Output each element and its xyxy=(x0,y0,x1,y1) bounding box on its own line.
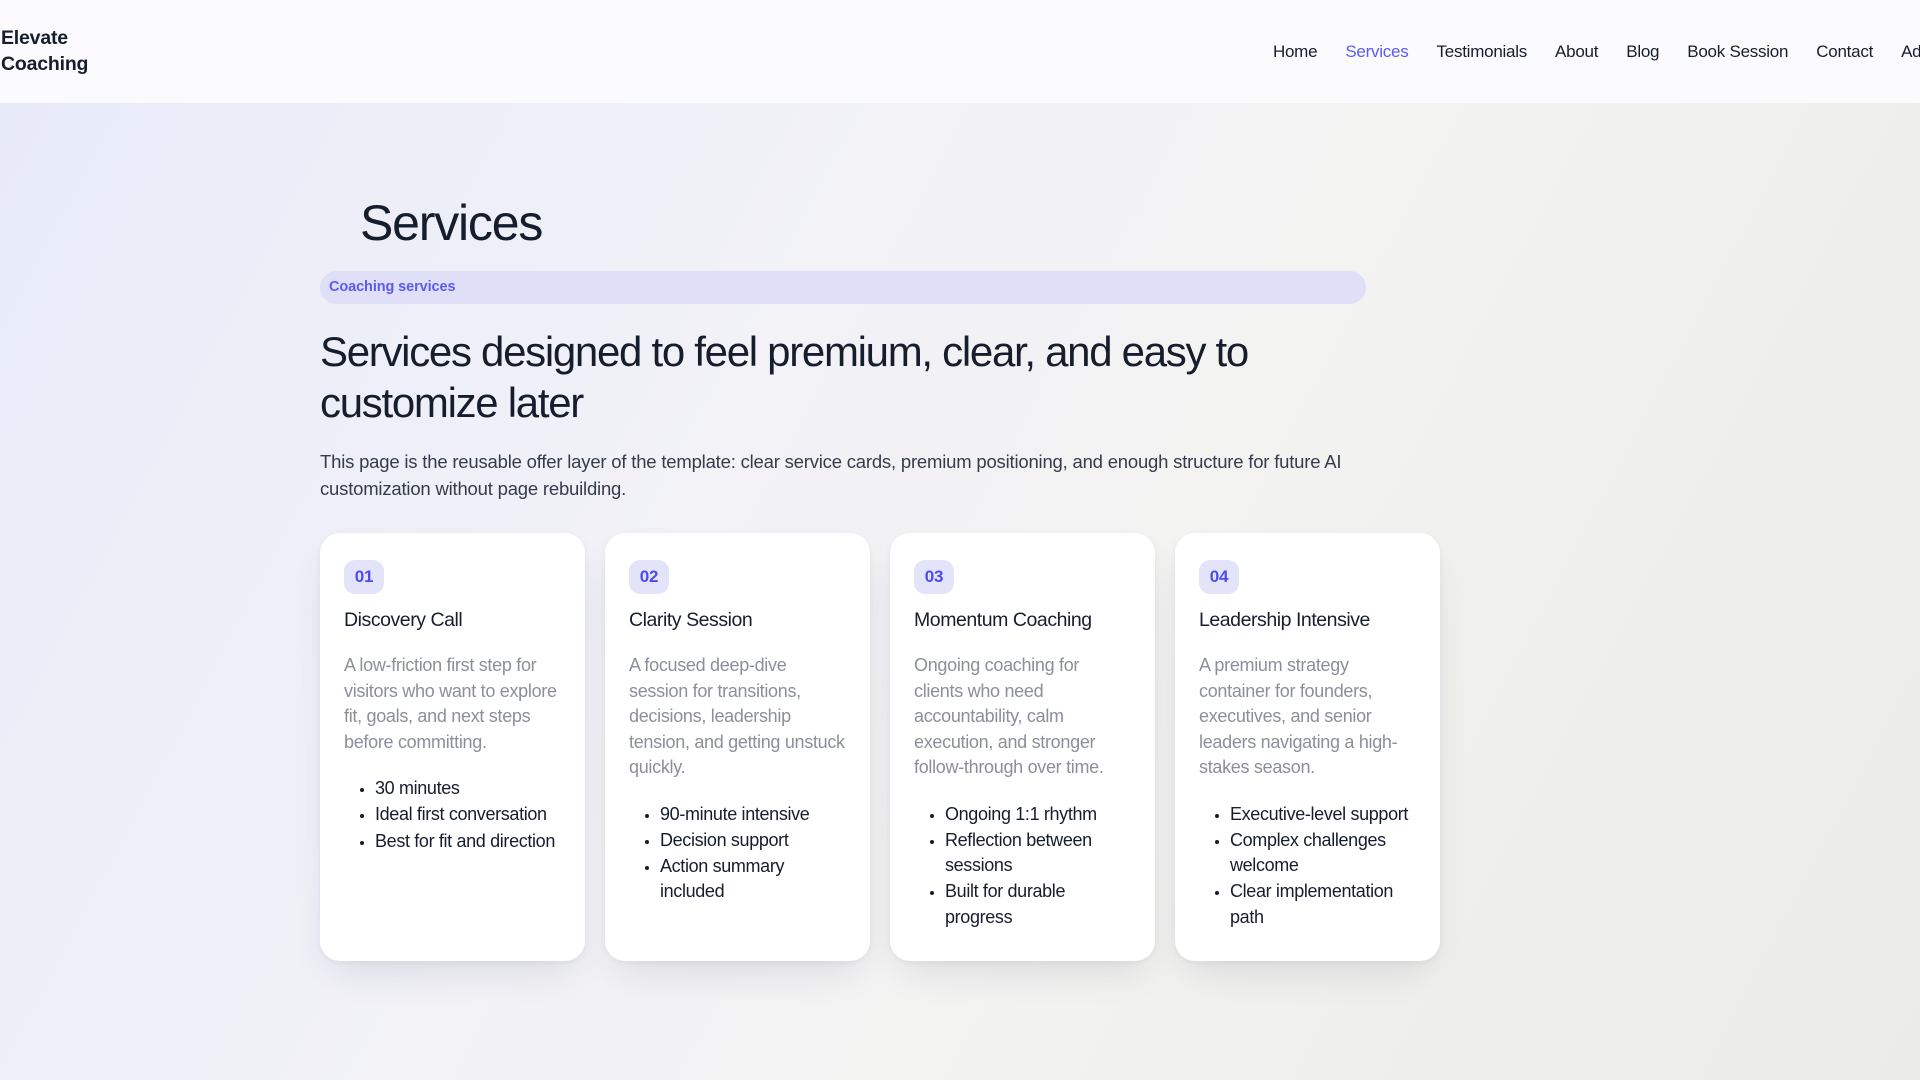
page-title: Services xyxy=(320,103,1600,251)
badge-row: Coaching services xyxy=(320,271,1600,304)
service-card-number: 04 xyxy=(1199,560,1239,594)
service-card-feature-item: Built for durable progress xyxy=(945,879,1131,929)
site-header: Elevate Coaching HomeServicesTestimonial… xyxy=(0,0,1920,103)
service-card[interactable]: 03Momentum CoachingOngoing coaching for … xyxy=(890,533,1155,961)
service-card-description: A focused deep-dive session for transiti… xyxy=(629,653,846,781)
service-card-description: A premium strategy container for founder… xyxy=(1199,653,1416,781)
service-card-title: Clarity Session xyxy=(629,609,846,632)
service-card-number: 02 xyxy=(629,560,669,594)
nav-link-admin[interactable]: Admin xyxy=(1901,42,1920,62)
eyebrow-badge: Coaching services xyxy=(320,271,1366,304)
service-card-title: Leadership Intensive xyxy=(1199,609,1416,632)
hero-headline: Services designed to feel premium, clear… xyxy=(320,326,1320,428)
service-cards-grid: 01Discovery CallA low-friction first ste… xyxy=(320,533,1600,961)
service-card-feature-list: Ongoing 1:1 rhythmReflection between ses… xyxy=(914,802,1131,930)
service-card-feature-item: Ongoing 1:1 rhythm xyxy=(945,802,1131,827)
nav-link-blog[interactable]: Blog xyxy=(1626,42,1659,62)
service-card[interactable]: 02Clarity SessionA focused deep-dive ses… xyxy=(605,533,870,961)
nav-link-contact[interactable]: Contact xyxy=(1816,42,1873,62)
service-card-feature-item: 90-minute intensive xyxy=(660,802,846,827)
service-card-feature-item: Clear implementation path xyxy=(1230,879,1416,929)
service-card-description: Ongoing coaching for clients who need ac… xyxy=(914,653,1131,781)
service-card-feature-list: Executive-level supportComplex challenge… xyxy=(1199,802,1416,930)
nav-link-home[interactable]: Home xyxy=(1273,42,1317,62)
nav-link-about[interactable]: About xyxy=(1555,42,1598,62)
main-navigation: HomeServicesTestimonialsAboutBlogBook Se… xyxy=(1273,42,1920,62)
service-card-feature-list: 30 minutesIdeal first conversationBest f… xyxy=(344,776,561,854)
service-card-title: Discovery Call xyxy=(344,609,561,632)
service-card-number: 03 xyxy=(914,560,954,594)
service-card-feature-item: Best for fit and direction xyxy=(375,829,561,854)
service-card-feature-item: Ideal first conversation xyxy=(375,802,561,827)
service-card-number: 01 xyxy=(344,560,384,594)
service-card-description: A low-friction first step for visitors w… xyxy=(344,653,561,755)
service-card-feature-item: Action summary included xyxy=(660,854,846,904)
hero-description: This page is the reusable offer layer of… xyxy=(320,449,1360,502)
service-card-feature-item: Reflection between sessions xyxy=(945,828,1131,878)
nav-link-testimonials[interactable]: Testimonials xyxy=(1437,42,1528,62)
service-card[interactable]: 04Leadership IntensiveA premium strategy… xyxy=(1175,533,1440,961)
service-card-feature-item: Complex challenges welcome xyxy=(1230,828,1416,878)
hero-section: Services Coaching services Services desi… xyxy=(0,103,1920,1080)
nav-link-book-session[interactable]: Book Session xyxy=(1687,42,1788,62)
service-card-feature-item: Decision support xyxy=(660,828,846,853)
service-card-feature-list: 90-minute intensiveDecision supportActio… xyxy=(629,802,846,905)
service-card-feature-item: 30 minutes xyxy=(375,776,561,801)
nav-link-services[interactable]: Services xyxy=(1345,42,1408,62)
service-card-title: Momentum Coaching xyxy=(914,609,1131,632)
service-card-feature-item: Executive-level support xyxy=(1230,802,1416,827)
service-card[interactable]: 01Discovery CallA low-friction first ste… xyxy=(320,533,585,961)
brand-logo[interactable]: Elevate Coaching xyxy=(0,26,88,77)
